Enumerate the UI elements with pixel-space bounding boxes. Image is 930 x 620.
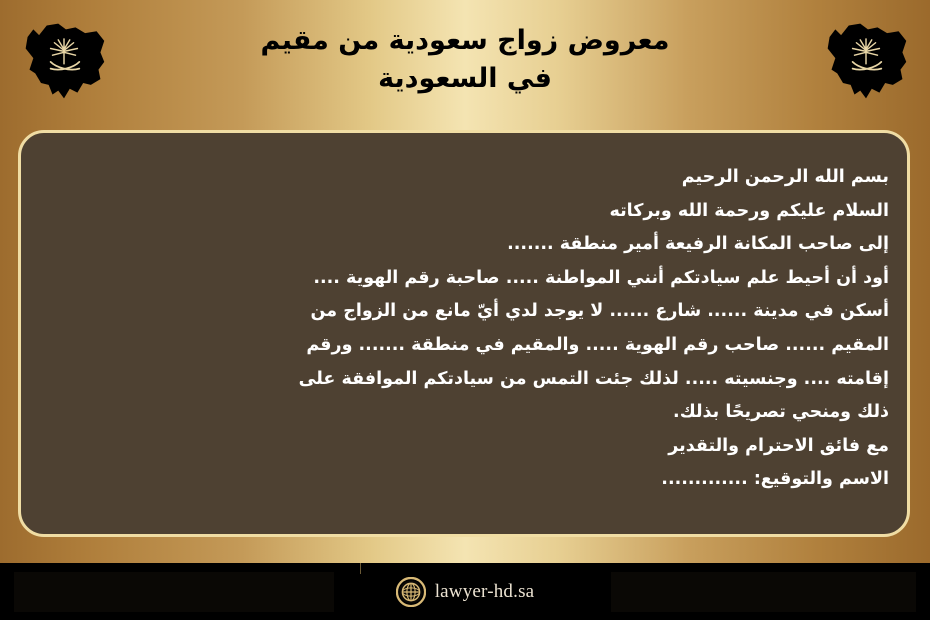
- page-title: معروض زواج سعودية من مقيم في السعودية: [120, 22, 810, 98]
- document-line: المقيم ...... صاحب رقم الهوية ..... والم…: [41, 329, 889, 363]
- site-branding[interactable]: lawyer-hd.sa: [0, 563, 930, 620]
- poster-canvas: معروض زواج سعودية من مقيم في السعودية بس…: [0, 0, 930, 620]
- document-line: ذلك ومنحي تصريحًا بذلك.: [41, 396, 889, 430]
- document-line: الاسم والتوقيع: .............: [41, 463, 889, 497]
- site-url-label: lawyer-hd.sa: [435, 581, 535, 603]
- document-body: بسم الله الرحمن الرحيم السلام عليكم ورحم…: [21, 133, 907, 497]
- saudi-map-emblem-left: [16, 14, 112, 106]
- document-line: أسكن في مدينة ...... شارع ...... لا يوجد…: [41, 295, 889, 329]
- page-title-line-2: في السعودية: [120, 60, 810, 98]
- document-line: إقامته .... وجنسيته ..... لذلك جئت التمس…: [41, 363, 889, 397]
- globe-icon: [396, 577, 426, 607]
- page-title-line-1: معروض زواج سعودية من مقيم: [120, 22, 810, 60]
- document-line: أود أن أحيط علم سيادتكم أنني المواطنة ..…: [41, 262, 889, 296]
- document-line: السلام عليكم ورحمة الله وبركاته: [41, 195, 889, 229]
- document-card: بسم الله الرحمن الرحيم السلام عليكم ورحم…: [18, 130, 910, 537]
- saudi-map-emblem-right: [818, 14, 914, 106]
- document-line: إلى صاحب المكانة الرفيعة أمير منطقة ....…: [41, 228, 889, 262]
- document-line: بسم الله الرحمن الرحيم: [41, 161, 889, 195]
- document-line: مع فائق الاحترام والتقدير: [41, 430, 889, 464]
- footer-bar: lawyer-hd.sa: [0, 563, 930, 620]
